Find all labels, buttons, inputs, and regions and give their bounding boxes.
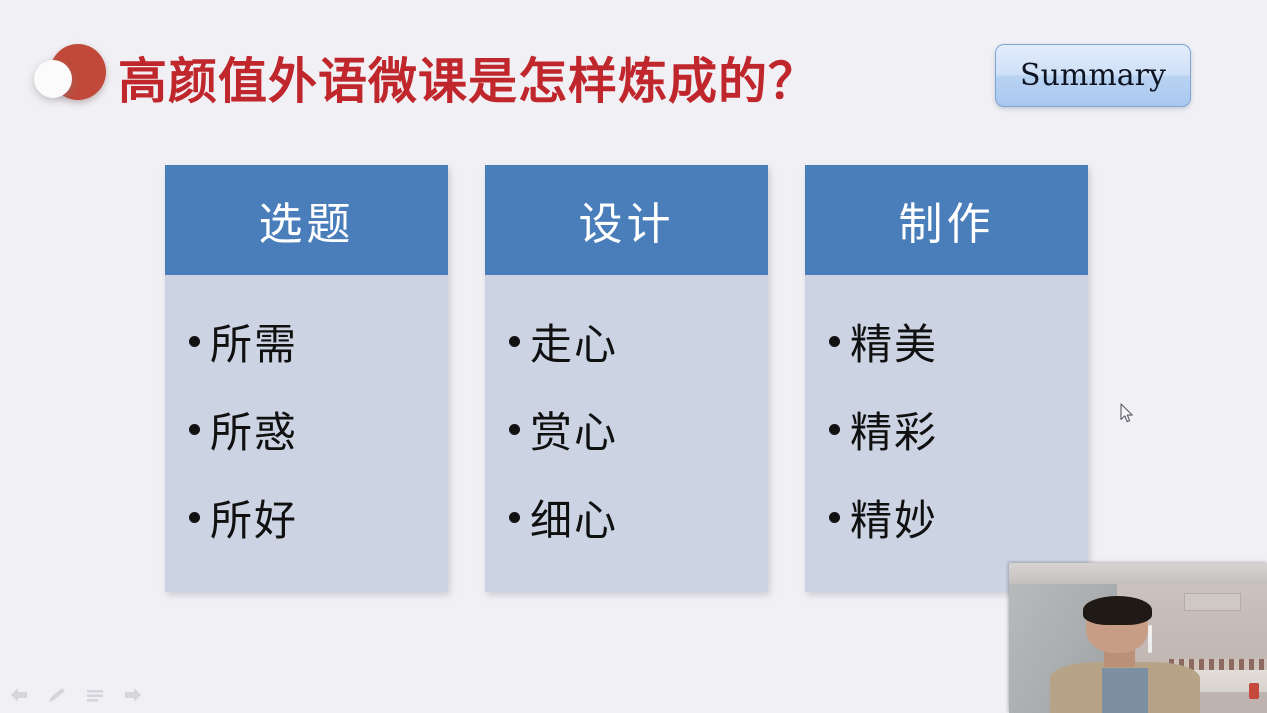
list-item-label: 所好 (210, 487, 298, 548)
bullet-dot-icon (829, 336, 840, 347)
video-vent (1184, 593, 1241, 611)
bullet-dot-icon (189, 424, 200, 435)
presenter-shirt (1102, 668, 1148, 713)
column-header: 选题 (165, 165, 448, 275)
list-item-label: 精妙 (850, 487, 938, 548)
list-item-label: 精美 (850, 311, 938, 372)
summary-button[interactable]: Summary (995, 44, 1191, 107)
column-group: 选题 所需 所惑 所好 设计 (165, 165, 1088, 592)
list-item: 细心 (509, 473, 768, 561)
bullet-dot-icon (189, 512, 200, 523)
ornament-pearl (34, 60, 72, 98)
list-item: 走心 (509, 297, 768, 385)
presenter-hair (1083, 596, 1153, 625)
column-body: 走心 赏心 细心 (485, 275, 768, 592)
list-item: 精彩 (829, 385, 1088, 473)
presenter-earphone (1148, 625, 1152, 653)
bullet-dot-icon (509, 424, 520, 435)
list-item-label: 赏心 (530, 399, 618, 460)
circle-ornament-icon (34, 40, 106, 104)
list-item: 精妙 (829, 473, 1088, 561)
menu-list-icon[interactable] (84, 685, 106, 705)
next-slide-icon[interactable] (122, 685, 144, 705)
column-body: 所需 所惑 所好 (165, 275, 448, 592)
list-item-label: 精彩 (850, 399, 938, 460)
list-item: 所惑 (189, 385, 448, 473)
mouse-cursor-icon (1120, 403, 1136, 425)
column-production: 制作 精美 精彩 精妙 (805, 165, 1088, 592)
slide-canvas: 高颜值外语微课是怎样炼成的？ Summary 选题 所需 所惑 所好 (0, 0, 1267, 713)
bullet-dot-icon (509, 512, 520, 523)
list-item-label: 所需 (210, 311, 298, 372)
bullet-dot-icon (189, 336, 200, 347)
bullet-dot-icon (829, 512, 840, 523)
column-design: 设计 走心 赏心 细心 (485, 165, 768, 592)
list-item-label: 所惑 (210, 399, 298, 460)
video-ceiling (1009, 563, 1267, 584)
pen-annotate-icon[interactable] (46, 685, 68, 705)
column-header: 制作 (805, 165, 1088, 275)
list-item: 赏心 (509, 385, 768, 473)
presenter-video-overlay[interactable] (1009, 563, 1267, 713)
list-item-label: 走心 (530, 311, 618, 372)
slide-header: 高颜值外语微课是怎样炼成的？ Summary (0, 0, 1267, 150)
player-toolbar (8, 685, 144, 705)
bullet-dot-icon (509, 336, 520, 347)
page-title: 高颜值外语微课是怎样炼成的？ (118, 42, 818, 113)
list-item: 精美 (829, 297, 1088, 385)
list-item-label: 细心 (530, 487, 618, 548)
column-body: 精美 精彩 精妙 (805, 275, 1088, 592)
column-header: 设计 (485, 165, 768, 275)
bullet-dot-icon (829, 424, 840, 435)
column-topic-selection: 选题 所需 所惑 所好 (165, 165, 448, 592)
video-red-object (1249, 683, 1259, 699)
previous-slide-icon[interactable] (8, 685, 30, 705)
list-item: 所需 (189, 297, 448, 385)
list-item: 所好 (189, 473, 448, 561)
